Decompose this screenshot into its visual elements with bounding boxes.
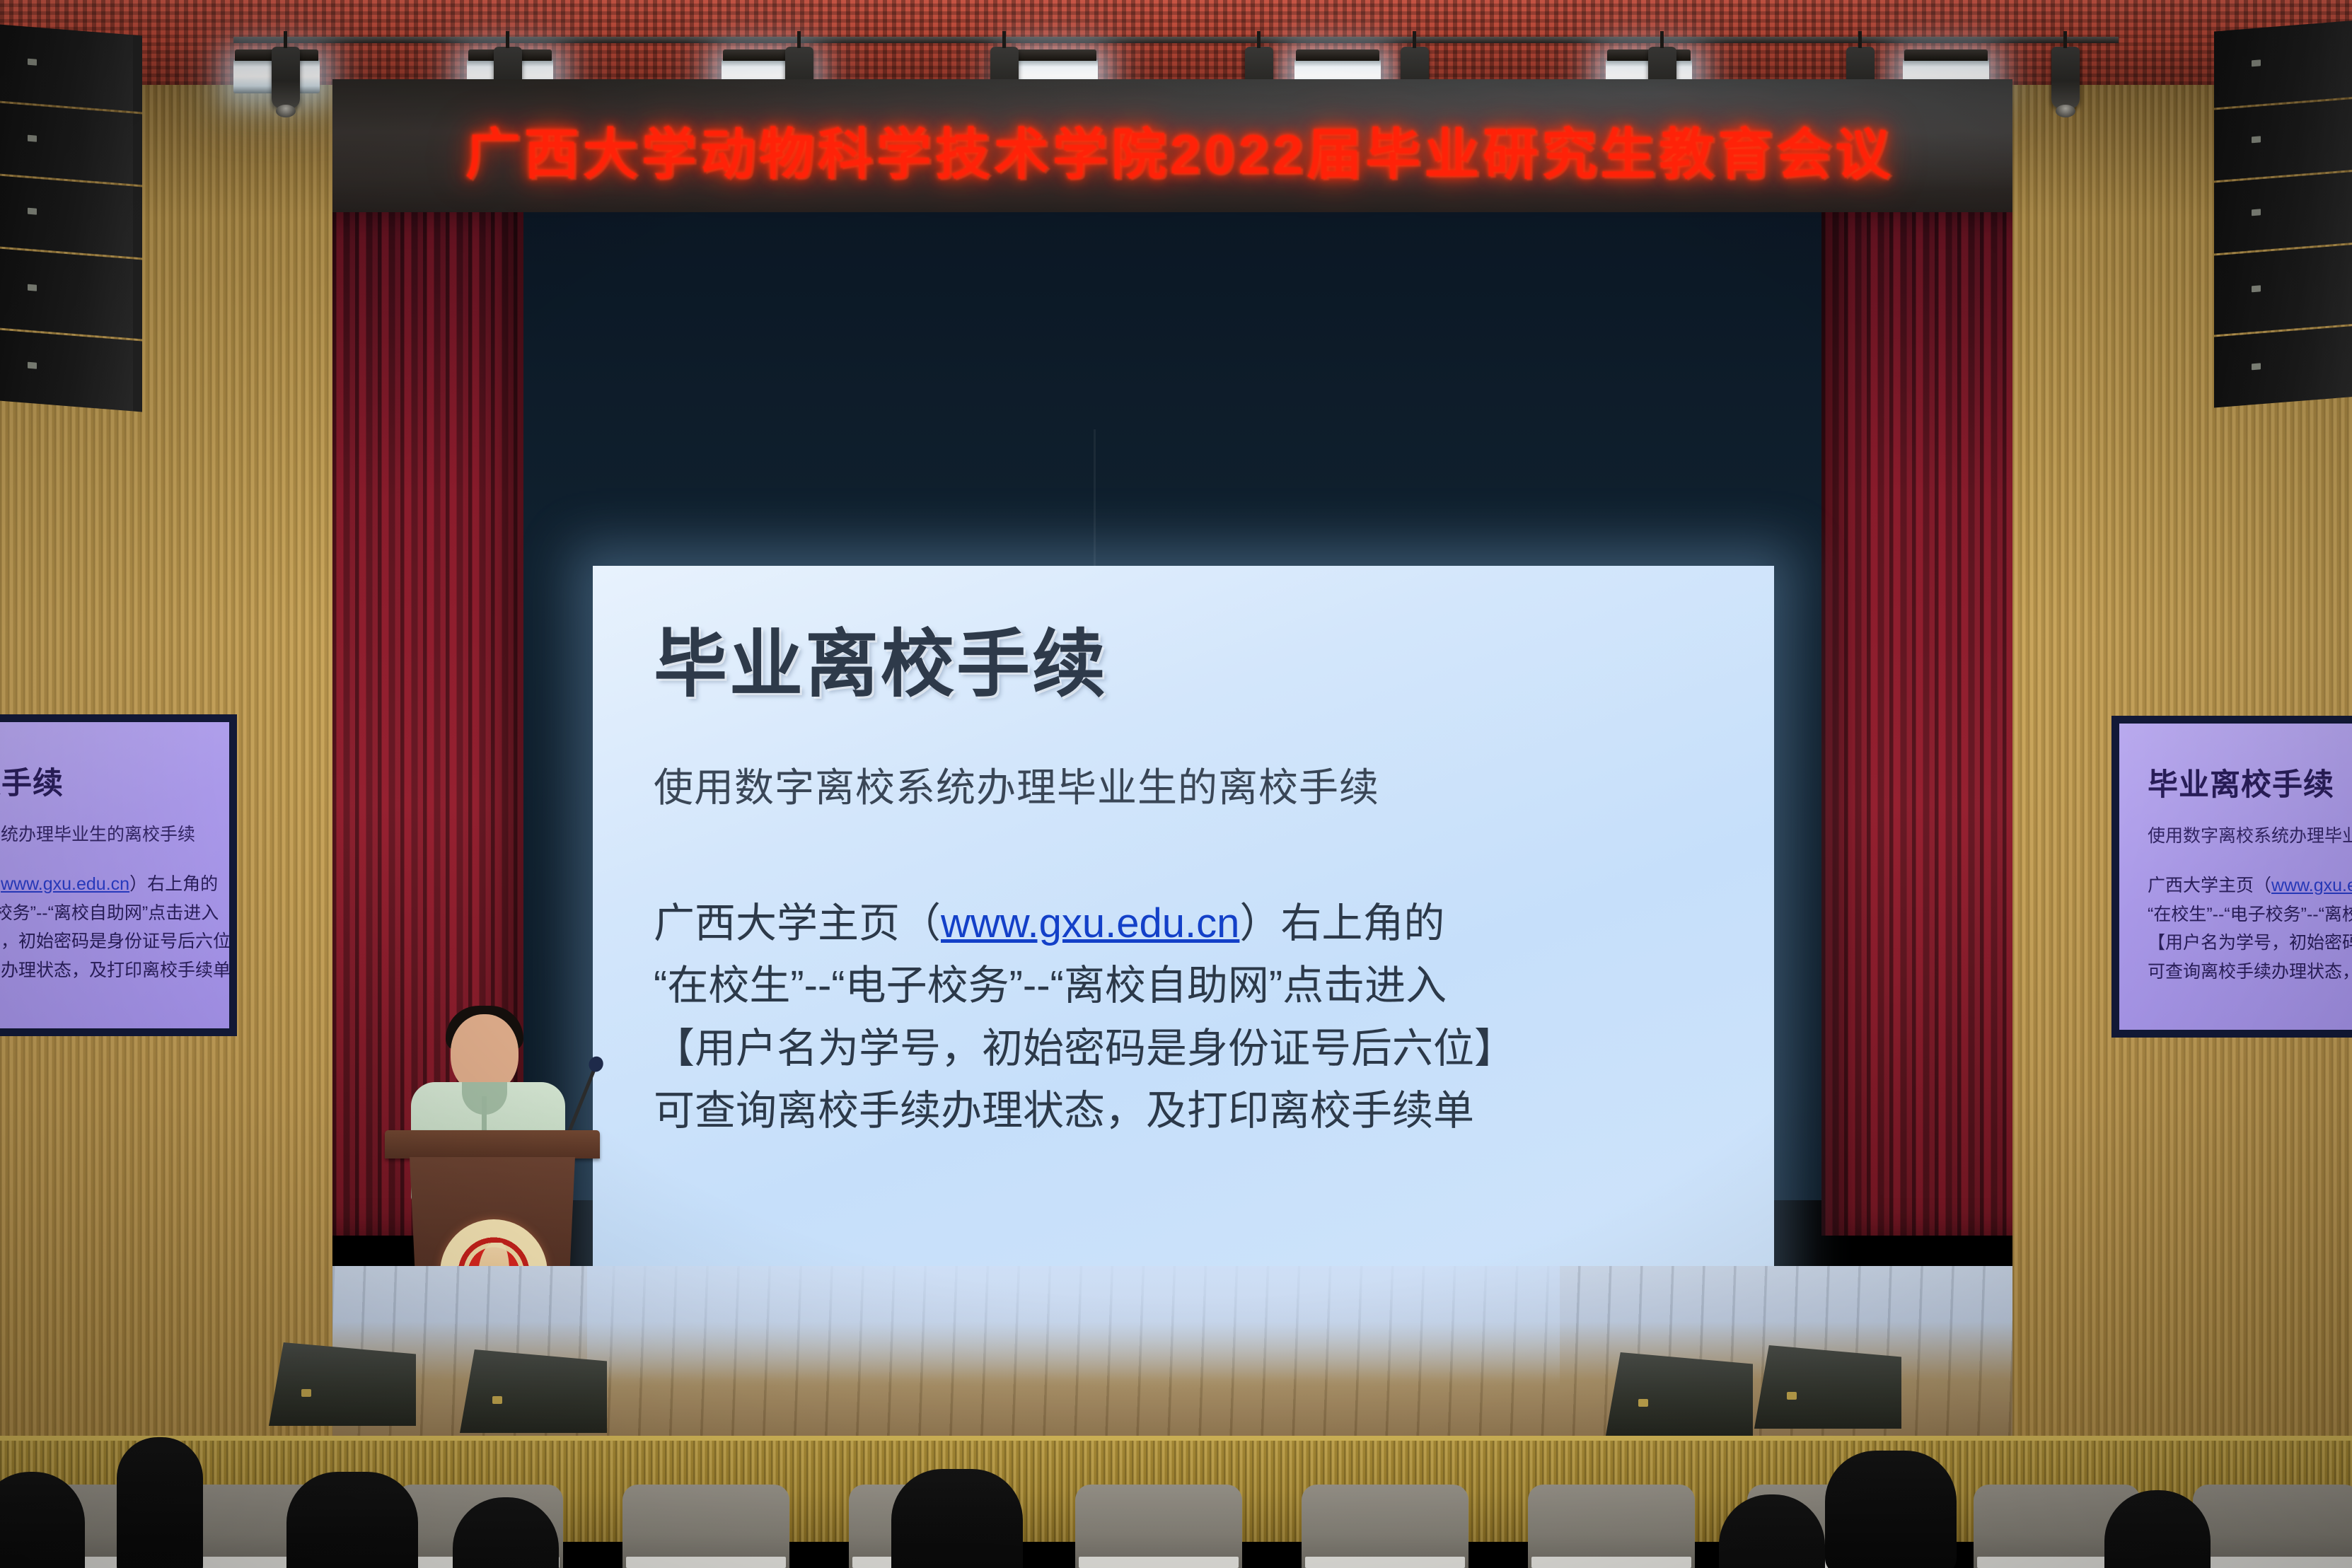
monitor-left-subtitle: 使用数字离校系统办理毕业生的离校手续: [0, 820, 229, 846]
monitor-right-content: 毕业离校手续 使用数字离校系统办理毕业生的离校手续 广西大学主页（www.gxu…: [2119, 724, 2352, 986]
monitor-left-title: 毕业离校手续: [0, 759, 229, 803]
stage-monitor-speaker: [1754, 1345, 1901, 1429]
audience-head: [286, 1472, 418, 1568]
speaker-module: [0, 103, 142, 185]
slide-title: 毕业离校手续: [654, 627, 1774, 704]
proscenium-header-panel: 广西大学动物科学技术学院2022届毕业研究生教育会议: [332, 79, 2012, 218]
monitor-right-line-2: “在校生”--“电子校务”--“离校自助网”点击进入: [2148, 900, 2352, 929]
monitor-screen-left: 毕业离校手续 使用数字离校系统办理毕业生的离校手续 广西大学主页（www.gxu…: [0, 722, 229, 1028]
speaker-module: [0, 24, 142, 112]
spotlight-icon: [272, 47, 300, 109]
stage-monitor-speaker: [1606, 1352, 1753, 1436]
speaker-module: [2214, 98, 2352, 181]
slide-line-1-pre: 广西大学主页（: [654, 900, 941, 946]
monitor-right-body: 广西大学主页（www.gxu.edu.cn）右上角的 “在校生”--“电子校务”…: [2148, 871, 2352, 986]
speaker-module: [2214, 244, 2352, 335]
projector-light-wash: [587, 1266, 1560, 1386]
line-array-speaker-left: [0, 24, 142, 414]
led-banner-text: 广西大学动物科学技术学院2022届毕业研究生教育会议: [375, 115, 1984, 185]
monitor-left-body: 广西大学主页（www.gxu.edu.cn）右上角的 “在校生”--“电子校务”…: [0, 870, 229, 985]
auditorium-seat: [622, 1485, 789, 1568]
auditorium-seat: [2193, 1485, 2352, 1568]
monitor-left-line-1-post: ）右上角的: [129, 874, 218, 894]
speaker-module: [0, 330, 142, 412]
monitor-left-line-2: “在校生”--“电子校务”--“离校自助网”点击进入: [0, 899, 229, 928]
slide-url-link[interactable]: www.gxu.edu.cn: [941, 900, 1239, 946]
monitor-right-subtitle: 使用数字离校系统办理毕业生的离校手续: [2148, 822, 2352, 847]
audience-area: [0, 1441, 2352, 1568]
monitor-right-line-4: 可查询离校手续办理状态，及打印离校手续单: [2148, 958, 2352, 987]
monitor-right-line-1-pre: 广西大学主页（: [2148, 876, 2271, 895]
monitor-left-content: 毕业离校手续 使用数字离校系统办理毕业生的离校手续 广西大学主页（www.gxu…: [0, 722, 229, 985]
projection-screen: 毕业离校手续 使用数字离校系统办理毕业生的离校手续 广西大学主页（www.gxu…: [593, 566, 1774, 1301]
slide-subtitle: 使用数字离校系统办理毕业生的离校手续: [654, 756, 1774, 813]
audience-head: [891, 1469, 1023, 1568]
lighting-truss-bar: [233, 37, 2119, 43]
stage-monitor-speaker: [460, 1349, 607, 1433]
monitor-right-line-1: 广西大学主页（www.gxu.edu.cn）右上角的: [2148, 871, 2352, 900]
audience-head: [117, 1437, 203, 1568]
speaker-module: [2214, 20, 2352, 108]
speaker-module: [2214, 171, 2352, 254]
podium-top-surface: [385, 1130, 600, 1158]
line-array-speaker-right: [2214, 20, 2352, 410]
slide-line-1-post: ）右上角的: [1239, 900, 1444, 946]
slide-line-4: 可查询离校手续办理状态，及打印离校手续单: [654, 1080, 1774, 1142]
slide-line-1: 广西大学主页（www.gxu.edu.cn）右上角的: [654, 893, 1774, 955]
stage-curtain-right: [1821, 212, 2012, 1236]
monitor-left-line-3: 【用户名为学号，初始密码是身份证号后六位】: [0, 927, 229, 956]
monitor-left-line-4: 可查询离校手续办理状态，及打印离校手续单: [0, 956, 229, 985]
monitor-left-line-1: 广西大学主页（www.gxu.edu.cn）右上角的: [0, 870, 229, 899]
monitor-right-title: 毕业离校手续: [2148, 760, 2352, 804]
monitor-left-url: www.gxu.edu.cn: [1, 874, 129, 894]
stage-monitor-speaker: [269, 1342, 416, 1426]
speaker-module: [0, 175, 142, 258]
speaker-module: [2214, 325, 2352, 408]
auditorium-seat: [1302, 1485, 1468, 1568]
audience-head: [1825, 1451, 1957, 1568]
slide-line-2: “在校生”--“电子校务”--“离校自助网”点击进入: [654, 955, 1774, 1017]
confidence-monitor-right: 毕业离校手续 使用数字离校系统办理毕业生的离校手续 广西大学主页（www.gxu…: [2111, 716, 2352, 1038]
slide-line-3: 【用户名为学号，初始密码是身份证号后六位】: [654, 1018, 1774, 1080]
monitor-right-url: www.gxu.edu.cn: [2271, 876, 2352, 895]
spotlight-icon: [2051, 47, 2080, 109]
monitor-right-line-3: 【用户名为学号，初始密码是身份证号后六位】: [2148, 929, 2352, 958]
monitor-screen-right: 毕业离校手续 使用数字离校系统办理毕业生的离校手续 广西大学主页（www.gxu…: [2119, 724, 2352, 1030]
auditorium-seat: [1528, 1485, 1695, 1568]
speaker-module: [0, 248, 142, 339]
confidence-monitor-left: 毕业离校手续 使用数字离校系统办理毕业生的离校手续 广西大学主页（www.gxu…: [0, 714, 237, 1036]
auditorium-seat: [1075, 1485, 1242, 1568]
stage-floor: [332, 1266, 2012, 1450]
auditorium-scene: 广西大学动物科学技术学院2022届毕业研究生教育会议 毕业离校手续 使用数字离校…: [0, 0, 2352, 1568]
slide-body: 广西大学主页（www.gxu.edu.cn）右上角的 “在校生”--“电子校务”…: [654, 893, 1774, 1142]
